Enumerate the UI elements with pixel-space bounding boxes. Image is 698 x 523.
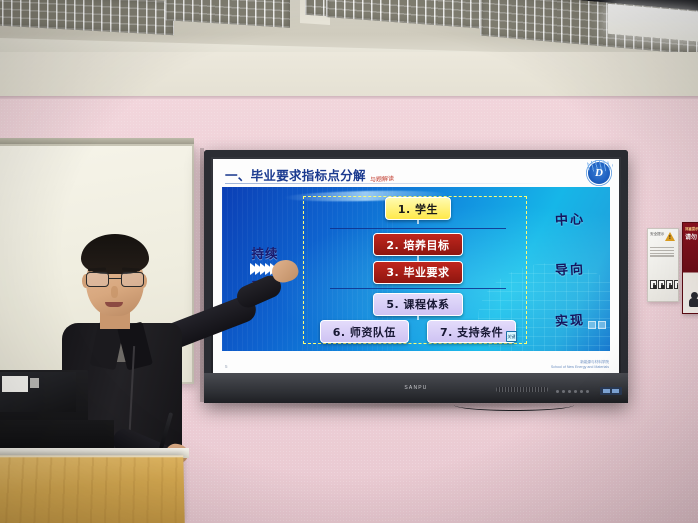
notice-poster-header: 郑重提示 <box>683 223 698 231</box>
control-button[interactable] <box>568 390 571 393</box>
control-button[interactable] <box>556 390 559 393</box>
warning-triangle-icon <box>665 232 675 241</box>
notice-poster-headline: 请勿 <box>683 231 698 242</box>
speaker-grille <box>496 387 548 392</box>
slide-number: 5 <box>225 364 228 369</box>
control-button[interactable] <box>580 390 583 393</box>
divider-rule <box>330 288 507 289</box>
slide-badge: 关键 <box>506 331 517 342</box>
slide-footer-en: School of New Energy and Materials <box>551 365 609 369</box>
pictogram-icon <box>666 280 673 289</box>
slide-title-main: 一、毕业要求指标点分解 <box>225 165 366 184</box>
pictogram-icon <box>674 280 679 289</box>
pictogram-icon <box>658 280 665 289</box>
flow-node-6: 6. 师资队伍 <box>320 320 409 343</box>
wall-seam <box>0 96 698 99</box>
control-button[interactable] <box>574 390 577 393</box>
classroom-scene: 安全提示 郑重提示 请勿 一、毕业要求指标点分解 与题解读 <box>0 0 698 523</box>
side-monitor-window <box>2 376 28 392</box>
keyword-1: 中心 <box>555 208 586 229</box>
control-button[interactable] <box>586 390 589 393</box>
display-indicator <box>600 387 622 395</box>
podium <box>0 455 185 523</box>
notice-poster: 郑重提示 请勿 <box>682 222 698 314</box>
slide-title-underline <box>225 183 555 184</box>
flow-node-7: 7. 支持条件 <box>427 320 516 343</box>
person-figure-icon <box>689 292 698 308</box>
safety-sign-text-lines <box>650 247 676 257</box>
safety-pictograms <box>650 280 679 289</box>
flow-node-3: 3. 毕业要求 <box>373 261 462 284</box>
side-monitor-icon <box>30 378 39 388</box>
divider-rule <box>330 228 507 229</box>
university-logo: D <box>588 162 610 184</box>
connector-tick <box>417 256 418 260</box>
display-control-buttons[interactable] <box>556 390 589 393</box>
control-button[interactable] <box>562 390 565 393</box>
diagram-flow: 1. 学生 2. 培养目标 3. 毕业要求 5. 课程体系 6. 师资队伍 7.… <box>315 197 521 343</box>
corner-squares-icon <box>588 321 606 329</box>
flow-node-1: 1. 学生 <box>385 197 451 220</box>
connector-tick <box>417 220 418 224</box>
pictogram-icon <box>650 280 657 289</box>
display-brand: SANPU <box>404 385 427 391</box>
slide-footer: 新能源与材料学院 School of New Energy and Materi… <box>551 360 609 369</box>
glasses-icon <box>86 272 144 287</box>
ci-top-label: 持续 <box>229 243 301 262</box>
display-cable <box>454 399 574 411</box>
slide-title: 一、毕业要求指标点分解 与题解读 <box>225 165 394 184</box>
ceiling-light-grille <box>165 0 290 28</box>
safety-sign: 安全提示 <box>647 228 679 302</box>
side-monitor-screen <box>0 372 76 412</box>
flow-bottom-row: 6. 师资队伍 7. 支持条件 <box>315 320 521 343</box>
presenter-mouth <box>105 302 123 307</box>
ceiling-light-grille <box>0 0 174 35</box>
flow-node-2: 2. 培养目标 <box>373 233 462 256</box>
presenter-nose <box>111 286 118 298</box>
keyword-2: 导向 <box>555 259 586 280</box>
keyword-3: 实现 <box>555 309 586 330</box>
flow-node-5: 5. 课程体系 <box>373 293 462 316</box>
logo-mark: D <box>588 162 610 184</box>
